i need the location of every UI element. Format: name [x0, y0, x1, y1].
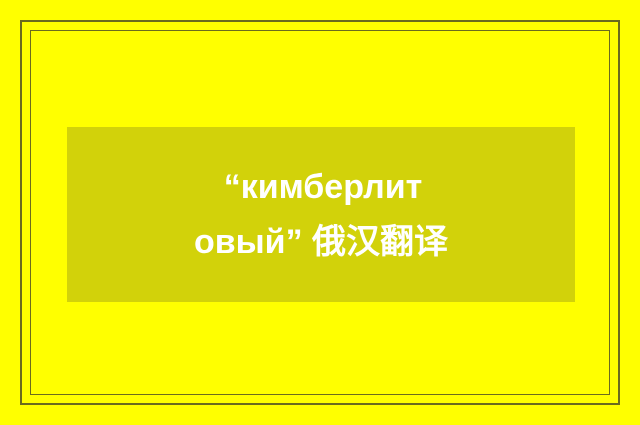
page-canvas: “кимберлит овый” 俄汉翻译 — [0, 0, 640, 425]
title-line-2: овый” 俄汉翻译 — [67, 215, 575, 270]
page-title: “кимберлит овый” 俄汉翻译 — [67, 160, 575, 270]
content-panel: “кимберлит овый” 俄汉翻译 — [67, 127, 575, 302]
title-line-1: “кимберлит — [67, 160, 575, 215]
